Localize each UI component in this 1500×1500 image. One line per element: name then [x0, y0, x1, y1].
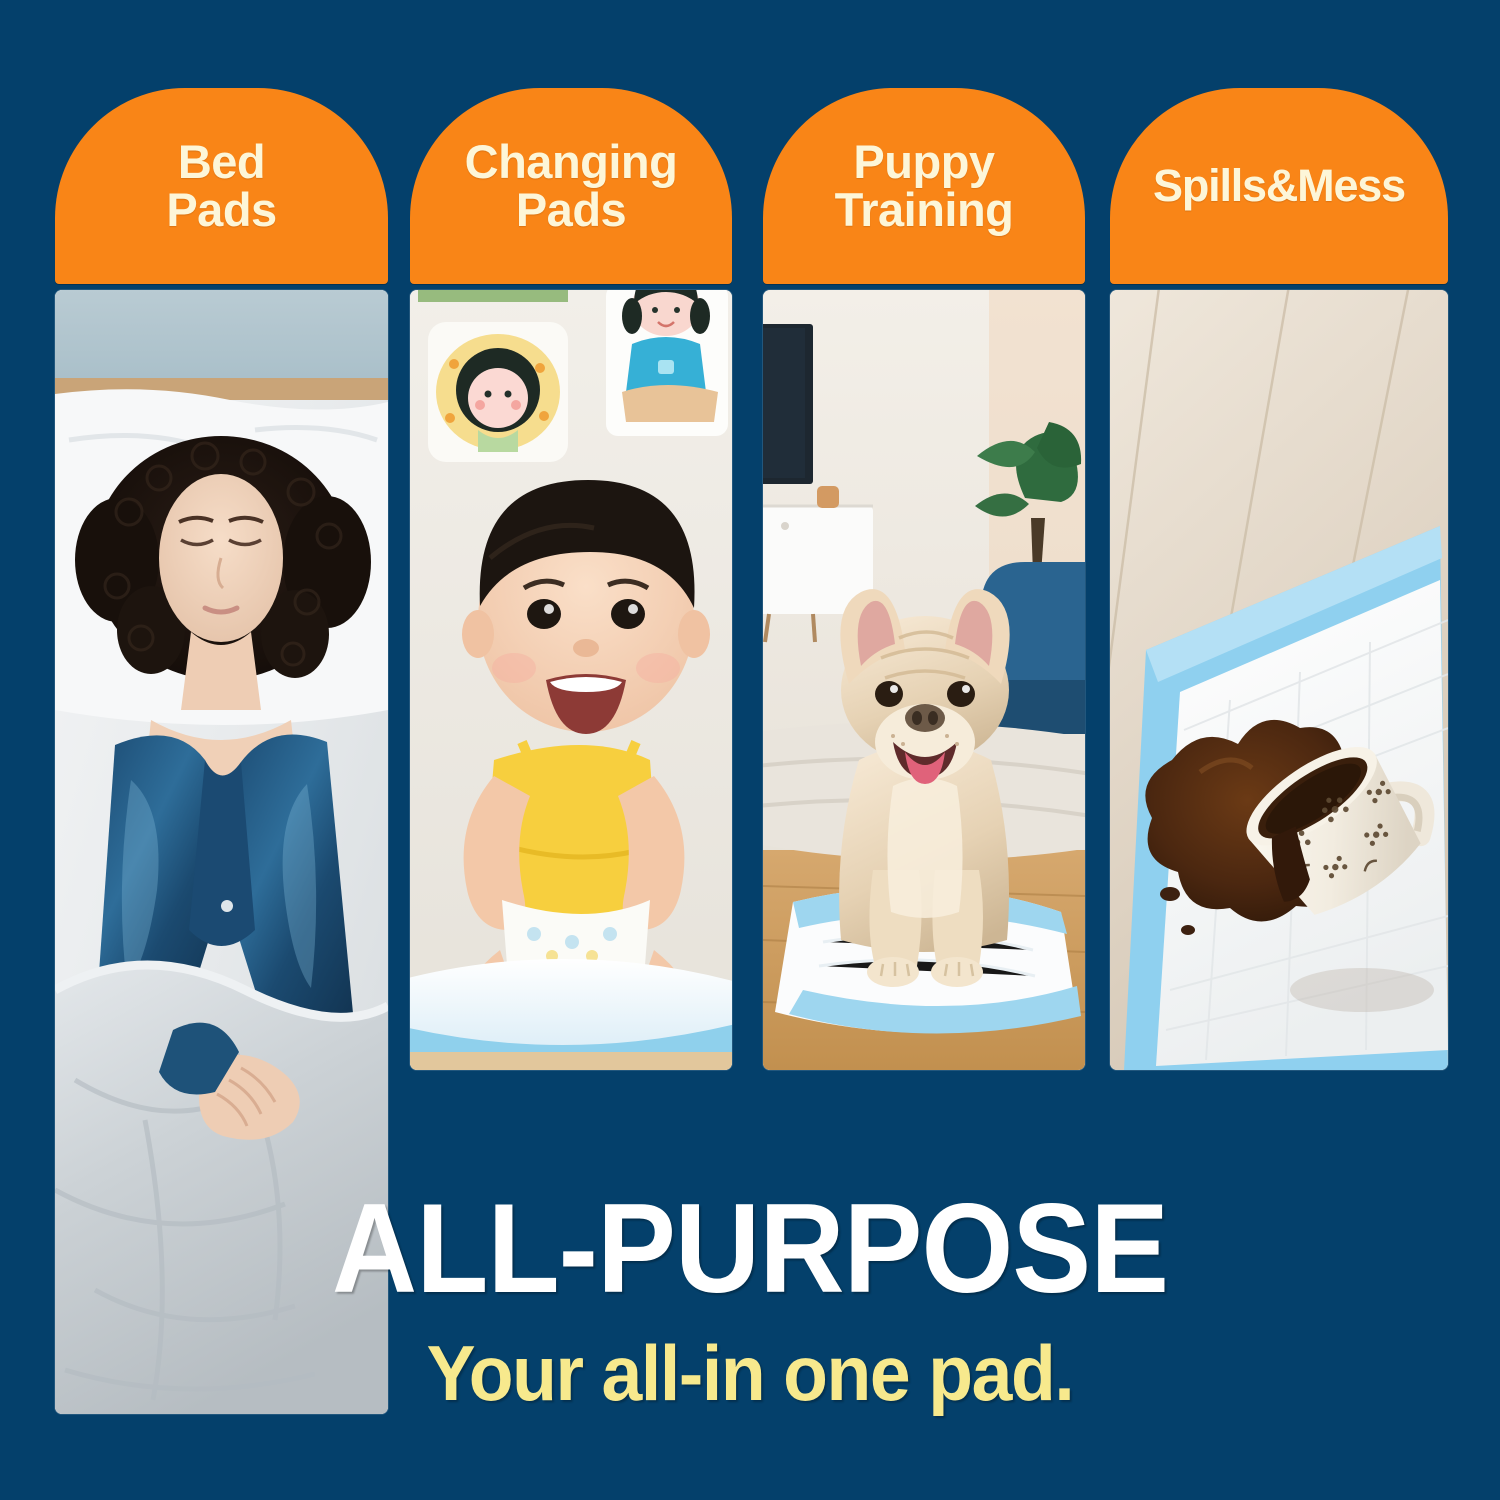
french-bulldog-photo: [763, 290, 1085, 1070]
panel-label-bed-pads: Bed Pads: [166, 138, 276, 235]
smiling-baby-photo: [410, 290, 732, 1070]
headline-block: ALL-PURPOSE Your all-in one pad.: [0, 1185, 1500, 1412]
panel-label-puppy-training: Puppy Training: [835, 138, 1014, 235]
panel-header-spills-mess: Spills&Mess: [1110, 88, 1448, 284]
product-infographic: Bed Pads: [0, 0, 1500, 1500]
headline-all-purpose: ALL-PURPOSE: [53, 1185, 1448, 1312]
panel-header-changing-pads: Changing Pads: [410, 88, 732, 284]
subheadline-tagline: Your all-in one pad.: [45, 1334, 1455, 1412]
coffee-spill-photo: [1110, 290, 1448, 1070]
panel-header-puppy-training: Puppy Training: [763, 88, 1085, 284]
panel-header-bed-pads: Bed Pads: [55, 88, 388, 284]
panel-label-spills-mess: Spills&Mess: [1153, 163, 1405, 209]
panel-label-changing-pads: Changing Pads: [465, 138, 678, 235]
